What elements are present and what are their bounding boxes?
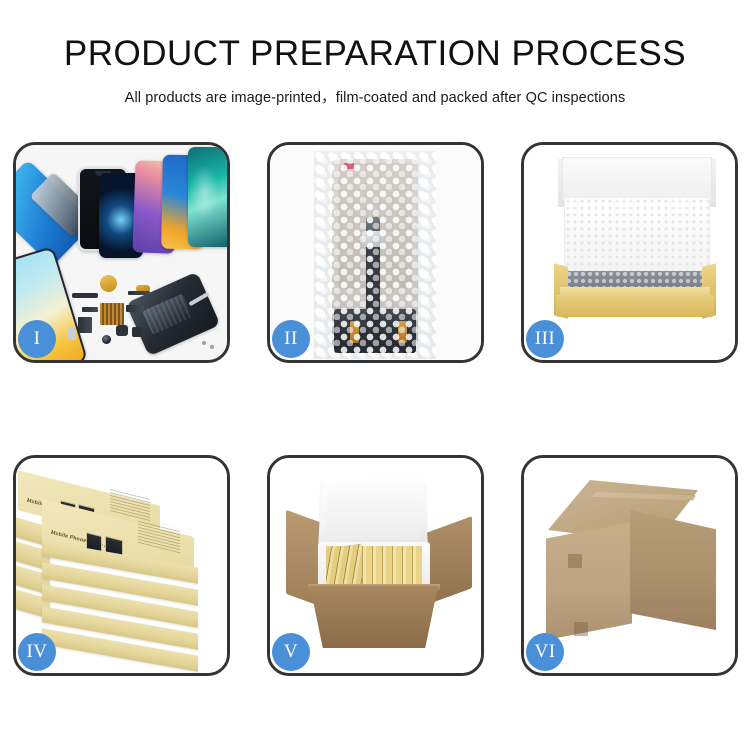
speaker-part bbox=[100, 275, 117, 292]
foam-lid bbox=[318, 480, 428, 547]
carton-hand-hole-bottom bbox=[574, 622, 588, 636]
page-header: PRODUCT PREPARATION PROCESS All products… bbox=[0, 0, 750, 107]
camera-lens-part bbox=[102, 335, 111, 344]
step-badge-5: V bbox=[272, 633, 310, 671]
step-badge-4: IV bbox=[18, 633, 56, 671]
screw-part-2 bbox=[210, 345, 214, 349]
step-panel-3: III bbox=[521, 142, 738, 363]
step-panel-6: VI bbox=[521, 455, 738, 676]
step-panel-1: I bbox=[13, 142, 230, 363]
flex-cable-part-4 bbox=[126, 305, 144, 312]
flex-cable-part-2 bbox=[82, 307, 98, 312]
step-panel-4: Mobile Phone Spare Parts Mobile Phone Sp… bbox=[13, 455, 230, 676]
step-badge-1: I bbox=[18, 320, 56, 358]
step-badge-6: VI bbox=[526, 633, 564, 671]
flex-cable-part-1 bbox=[128, 291, 150, 295]
camera-module-part bbox=[132, 327, 142, 337]
step-badge-3: III bbox=[526, 320, 564, 358]
carton-left-face bbox=[546, 522, 632, 640]
vibrator-motor-part bbox=[116, 325, 128, 336]
carton-hand-hole-top bbox=[568, 554, 582, 568]
flex-cable-part-3 bbox=[78, 317, 92, 333]
phone-display-teal bbox=[188, 147, 227, 247]
box-tray-front-wall bbox=[556, 295, 714, 317]
page-subtitle: All products are image-printed，film-coat… bbox=[0, 74, 750, 107]
step-panel-5: V bbox=[267, 455, 484, 676]
antenna-strip-part bbox=[72, 293, 98, 298]
box-lid-back-flap bbox=[562, 157, 712, 201]
step-badge-2: II bbox=[272, 320, 310, 358]
page-title: PRODUCT PREPARATION PROCESS bbox=[0, 0, 750, 74]
process-step-grid: I II bbox=[13, 142, 738, 676]
carton-body bbox=[310, 586, 438, 648]
bubble-texture-overlay bbox=[314, 151, 436, 359]
screw-part-1 bbox=[202, 341, 206, 345]
sim-tray-part bbox=[68, 327, 76, 340]
step-panel-2: II bbox=[267, 142, 484, 363]
product-preparation-page: PRODUCT PREPARATION PROCESS All products… bbox=[0, 0, 750, 750]
carton-right-face bbox=[630, 510, 716, 630]
ic-chip-part bbox=[100, 303, 124, 325]
white-foam-sheet bbox=[564, 197, 710, 277]
